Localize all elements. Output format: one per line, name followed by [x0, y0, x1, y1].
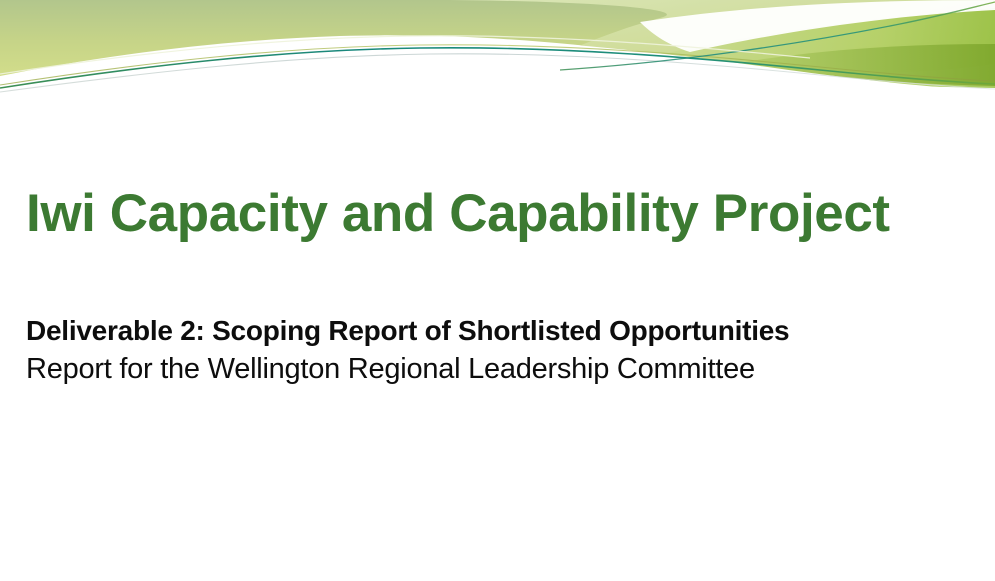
- page-title: Iwi Capacity and Capability Project: [26, 186, 971, 242]
- title-slide: Iwi Capacity and Capability Project Deli…: [0, 0, 995, 581]
- subtitle-deliverable: Deliverable 2: Scoping Report of Shortli…: [26, 313, 971, 350]
- subtitle-placeholder: Deliverable 2: Scoping Report of Shortli…: [26, 313, 971, 388]
- subtitle-audience: Report for the Wellington Regional Leade…: [26, 350, 971, 388]
- green-wave-banner: [0, 0, 995, 110]
- title-placeholder: Iwi Capacity and Capability Project: [26, 186, 971, 242]
- slide-body-empty-area: [0, 420, 995, 581]
